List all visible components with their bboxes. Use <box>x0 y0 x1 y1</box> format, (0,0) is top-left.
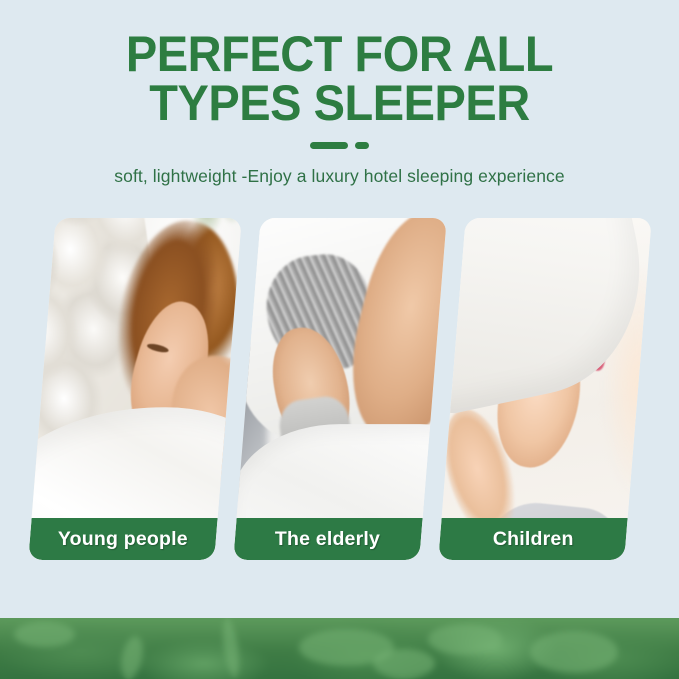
label-bar-the-elderly[interactable]: The elderly <box>233 518 422 560</box>
photo-elderly-man-sleeping <box>233 218 447 560</box>
header: PERFECT FOR ALL TYPES SLEEPER soft, ligh… <box>0 0 679 187</box>
strip-blur-overlay <box>0 618 679 679</box>
page-title-line-2: TYPES SLEEPER <box>20 79 658 128</box>
botanical-footer-strip <box>0 618 679 679</box>
panel-children[interactable]: Children <box>438 218 652 560</box>
label-bar-children[interactable]: Children <box>438 518 627 560</box>
page-title: PERFECT FOR ALL TYPES SLEEPER <box>20 0 658 128</box>
panel-the-elderly[interactable]: The elderly <box>233 218 447 560</box>
panel-label: Young people <box>58 528 188 551</box>
panel-label: Children <box>493 528 574 551</box>
panel-young-people[interactable]: Young people <box>28 218 242 560</box>
sleeper-type-panels: Young people The elderly <box>0 218 679 563</box>
photo-child-sleeping <box>438 218 652 560</box>
photo-young-person-sleeping <box>28 218 242 560</box>
dash-divider <box>280 141 400 149</box>
page-subtitle: soft, lightweight -Enjoy a luxury hotel … <box>0 166 679 187</box>
label-bar-young-people[interactable]: Young people <box>28 518 217 560</box>
panel-label: The elderly <box>275 528 380 551</box>
divider-short-dash-icon <box>355 142 369 149</box>
divider-long-dash-icon <box>310 142 348 149</box>
page-title-line-1: PERFECT FOR ALL <box>20 30 658 79</box>
